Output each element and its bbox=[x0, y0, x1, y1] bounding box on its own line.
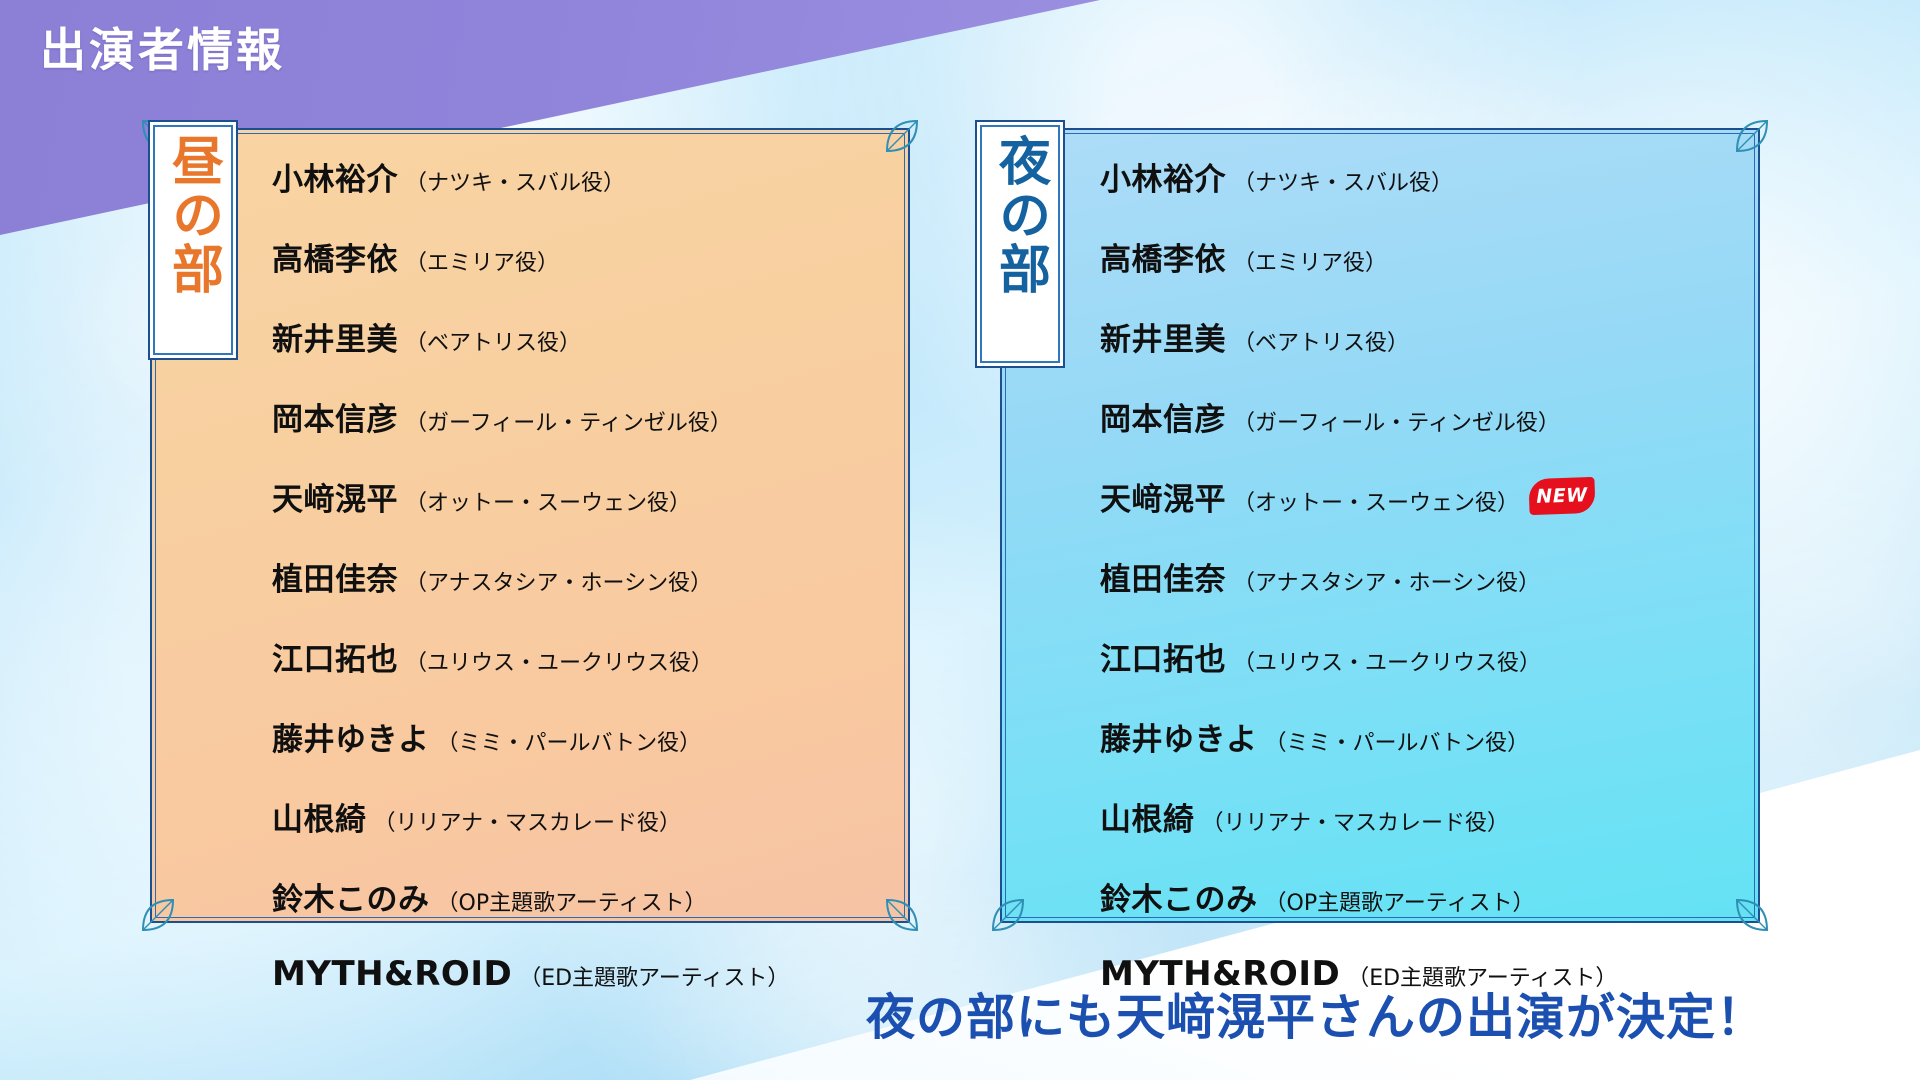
cast-list-day: 小林裕介（ナツキ・スバル役）高橋李依（エミリア役）新井里美（ベアトリス役）岡本信… bbox=[272, 154, 896, 1029]
cast-row: 天﨑滉平（オットー・スーウェン役）NEW bbox=[1100, 474, 1746, 519]
cast-name: 新井里美 bbox=[1100, 314, 1226, 359]
cast-name: 岡本信彦 bbox=[272, 394, 398, 439]
page-title: 出演者情報 bbox=[40, 14, 285, 80]
cast-name: 高橋李依 bbox=[272, 234, 398, 279]
cast-row: 岡本信彦（ガーフィール・ティンゼル役） bbox=[272, 394, 896, 439]
cast-role: （ユリウス・ユークリウス役） bbox=[405, 645, 713, 677]
cast-row: 鈴木このみ（OP主題歌アーティスト） bbox=[272, 874, 896, 919]
cast-row: 江口拓也（ユリウス・ユークリウス役） bbox=[272, 634, 896, 679]
cast-row: MYTH&ROID（ED主題歌アーティスト） bbox=[272, 954, 896, 994]
cast-name: 小林裕介 bbox=[272, 154, 398, 199]
cast-name: 山根綺 bbox=[272, 794, 367, 839]
cast-role: （ミミ・パールバトン役） bbox=[437, 725, 702, 757]
cast-name: 小林裕介 bbox=[1100, 154, 1226, 199]
cast-name: 藤井ゆきよ bbox=[1100, 714, 1258, 759]
cast-name: MYTH&ROID bbox=[272, 954, 512, 994]
cast-name: 天﨑滉平 bbox=[272, 474, 398, 519]
cast-name: 鈴木このみ bbox=[1100, 874, 1258, 919]
cast-name: 天﨑滉平 bbox=[1100, 474, 1226, 519]
cast-row: 天﨑滉平（オットー・スーウェン役） bbox=[272, 474, 896, 519]
tab-night-label: 夜の部 bbox=[992, 120, 1047, 296]
cast-role: （ガーフィール・ティンゼル役） bbox=[1233, 405, 1560, 437]
cast-role: （アナスタシア・ホーシン役） bbox=[405, 565, 712, 597]
cast-name: 鈴木このみ bbox=[272, 874, 430, 919]
cast-row: 藤井ゆきよ（ミミ・パールバトン役） bbox=[1100, 714, 1746, 759]
cast-name: 藤井ゆきよ bbox=[272, 714, 430, 759]
new-badge-label: NEW bbox=[1528, 477, 1595, 515]
cast-role: （オットー・スーウェン役） bbox=[405, 485, 691, 517]
cast-row: 藤井ゆきよ（ミミ・パールバトン役） bbox=[272, 714, 896, 759]
cast-name: 山根綺 bbox=[1100, 794, 1195, 839]
cast-row: 新井里美（ベアトリス役） bbox=[272, 314, 896, 359]
panel-night: 小林裕介（ナツキ・スバル役）高橋李依（エミリア役）新井里美（ベアトリス役）岡本信… bbox=[1000, 128, 1760, 923]
cast-role: （アナスタシア・ホーシン役） bbox=[1233, 565, 1540, 597]
new-badge: NEW bbox=[1528, 477, 1595, 515]
cast-row: 鈴木このみ（OP主題歌アーティスト） bbox=[1100, 874, 1746, 919]
cast-role: （ナツキ・スバル役） bbox=[1233, 165, 1453, 197]
cast-name: 新井里美 bbox=[272, 314, 398, 359]
slide-canvas: 出演者情報 小林裕介（ナツキ・スバル役）高橋李依（エミリア役）新井里美（ベアトリ… bbox=[0, 0, 1920, 1080]
cast-row: 小林裕介（ナツキ・スバル役） bbox=[1100, 154, 1746, 199]
cast-name: 植田佳奈 bbox=[272, 554, 398, 599]
cast-role: （エミリア役） bbox=[1233, 245, 1387, 277]
cast-name: 植田佳奈 bbox=[1100, 554, 1226, 599]
cast-role: （リリアナ・マスカレード役） bbox=[1202, 805, 1510, 837]
cast-role: （OP主題歌アーティスト） bbox=[437, 885, 707, 917]
tab-day[interactable]: 昼の部 bbox=[148, 120, 238, 360]
cast-role: （ミミ・パールバトン役） bbox=[1265, 725, 1530, 757]
cast-row: 小林裕介（ナツキ・スバル役） bbox=[272, 154, 896, 199]
cast-name: 岡本信彦 bbox=[1100, 394, 1226, 439]
tab-day-label: 昼の部 bbox=[165, 120, 220, 296]
footer-caption: 夜の部にも天﨑滉平さんの出演が決定！ bbox=[866, 978, 1906, 1049]
cast-row: 高橋李依（エミリア役） bbox=[1100, 234, 1746, 279]
tab-night[interactable]: 夜の部 bbox=[975, 120, 1065, 368]
cast-list-night: 小林裕介（ナツキ・スバル役）高橋李依（エミリア役）新井里美（ベアトリス役）岡本信… bbox=[1100, 154, 1746, 1029]
cast-row: 植田佳奈（アナスタシア・ホーシン役） bbox=[1100, 554, 1746, 599]
cast-row: 新井里美（ベアトリス役） bbox=[1100, 314, 1746, 359]
cast-role: （ベアトリス役） bbox=[1233, 325, 1409, 357]
cast-name: 高橋李依 bbox=[1100, 234, 1226, 279]
cast-name: 江口拓也 bbox=[1100, 634, 1226, 679]
cast-row: 山根綺（リリアナ・マスカレード役） bbox=[272, 794, 896, 839]
cast-role: （ガーフィール・ティンゼル役） bbox=[405, 405, 732, 437]
cast-role: （エミリア役） bbox=[405, 245, 559, 277]
panel-day: 小林裕介（ナツキ・スバル役）高橋李依（エミリア役）新井里美（ベアトリス役）岡本信… bbox=[150, 128, 910, 923]
cast-row: 山根綺（リリアナ・マスカレード役） bbox=[1100, 794, 1746, 839]
cast-row: 岡本信彦（ガーフィール・ティンゼル役） bbox=[1100, 394, 1746, 439]
cast-role: （リリアナ・マスカレード役） bbox=[374, 805, 682, 837]
cast-row: 高橋李依（エミリア役） bbox=[272, 234, 896, 279]
cast-row: 植田佳奈（アナスタシア・ホーシン役） bbox=[272, 554, 896, 599]
cast-row: 江口拓也（ユリウス・ユークリウス役） bbox=[1100, 634, 1746, 679]
cast-role: （ベアトリス役） bbox=[405, 325, 581, 357]
cast-role: （ナツキ・スバル役） bbox=[405, 165, 625, 197]
cast-role: （オットー・スーウェン役） bbox=[1233, 485, 1519, 517]
cast-role: （ED主題歌アーティスト） bbox=[519, 960, 789, 992]
cast-role: （OP主題歌アーティスト） bbox=[1265, 885, 1535, 917]
cast-name: 江口拓也 bbox=[272, 634, 398, 679]
cast-role: （ユリウス・ユークリウス役） bbox=[1233, 645, 1541, 677]
